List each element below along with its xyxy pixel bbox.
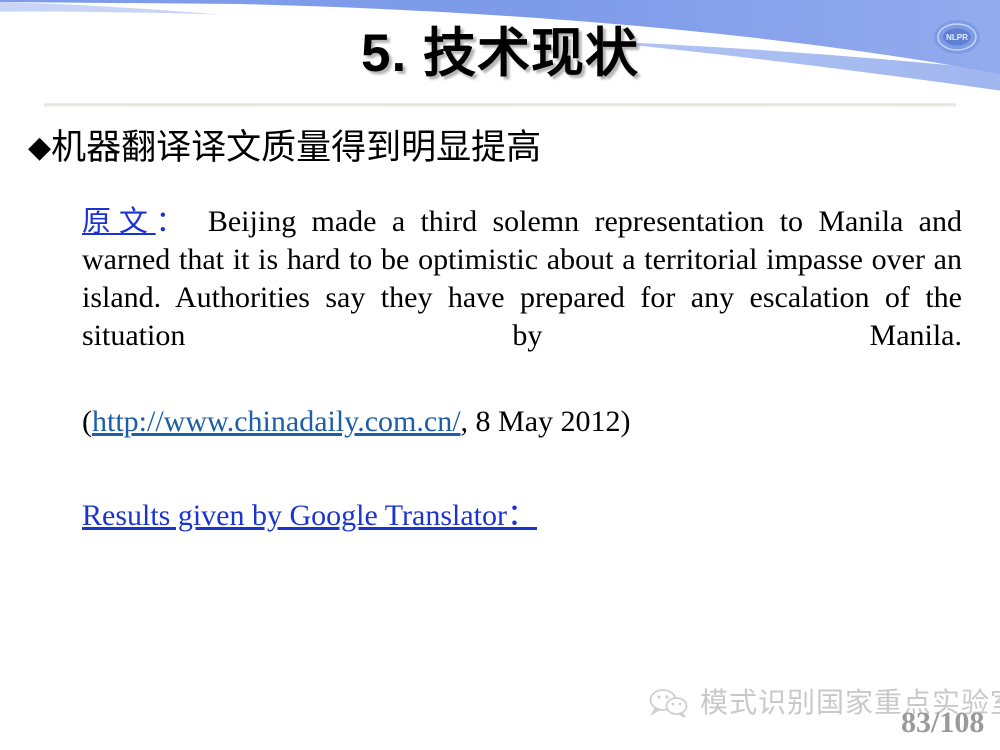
diamond-bullet-icon: ◆: [28, 131, 51, 164]
title-divider: [44, 103, 956, 107]
source-label[interactable]: 原文: [82, 206, 156, 238]
source-text: Beijing made a third solemn representati…: [82, 205, 962, 352]
citation-line: (http://www.chinadaily.com.cn/, 8 May 20…: [82, 403, 962, 441]
citation-date: , 8 May 2012): [461, 405, 631, 438]
body-content: 原文： Beijing made a third solemn represen…: [82, 203, 962, 535]
presentation-slide: NLPR 5. 技术现状 ◆机器翻译译文质量得到明显提高 原文： Beijing…: [0, 0, 1000, 750]
bullet-heading: ◆机器翻译译文质量得到明显提高: [28, 126, 541, 170]
citation-url-link[interactable]: http://www.chinadaily.com.cn/: [92, 405, 461, 438]
results-colon: ：: [507, 499, 537, 532]
page-number: 83/108: [901, 706, 984, 740]
wechat-icon: [648, 687, 690, 719]
source-paragraph: 原文： Beijing made a third solemn represen…: [82, 203, 962, 393]
citation-open-paren: (: [82, 405, 92, 438]
source-colon: ：: [156, 206, 193, 238]
results-label[interactable]: Results given by Google Translator: [82, 499, 507, 532]
page-title: 5. 技术现状: [0, 22, 1000, 86]
bullet-heading-text: 机器翻译译文质量得到明显提高: [51, 128, 541, 167]
results-heading: Results given by Google Translator：: [82, 497, 962, 535]
